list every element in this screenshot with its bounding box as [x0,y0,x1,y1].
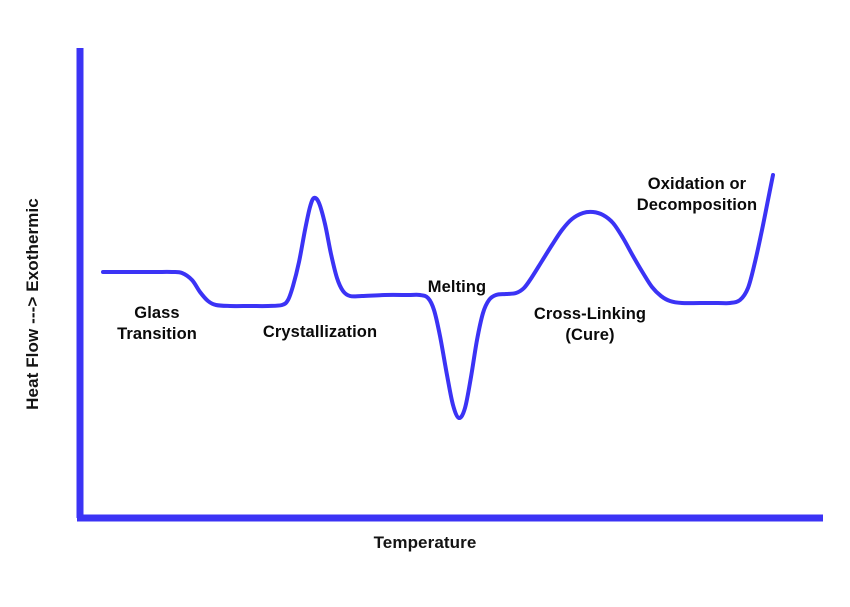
annotation-crystallization: Crystallization [263,322,377,343]
annotation-glass-transition: Glass Transition [117,303,197,345]
y-axis-title: Heat Flow ---> Exothermic [0,0,66,607]
annotation-melting: Melting [428,277,486,298]
dsc-thermogram-figure: Heat Flow ---> Exothermic Temperature Gl… [0,0,850,607]
annotation-cross-linking: Cross-Linking (Cure) [534,304,646,346]
annotation-oxidation-decomposition: Oxidation or Decomposition [637,174,757,216]
x-axis-title: Temperature [0,533,850,553]
y-axis-title-text: Heat Flow ---> Exothermic [23,198,43,410]
